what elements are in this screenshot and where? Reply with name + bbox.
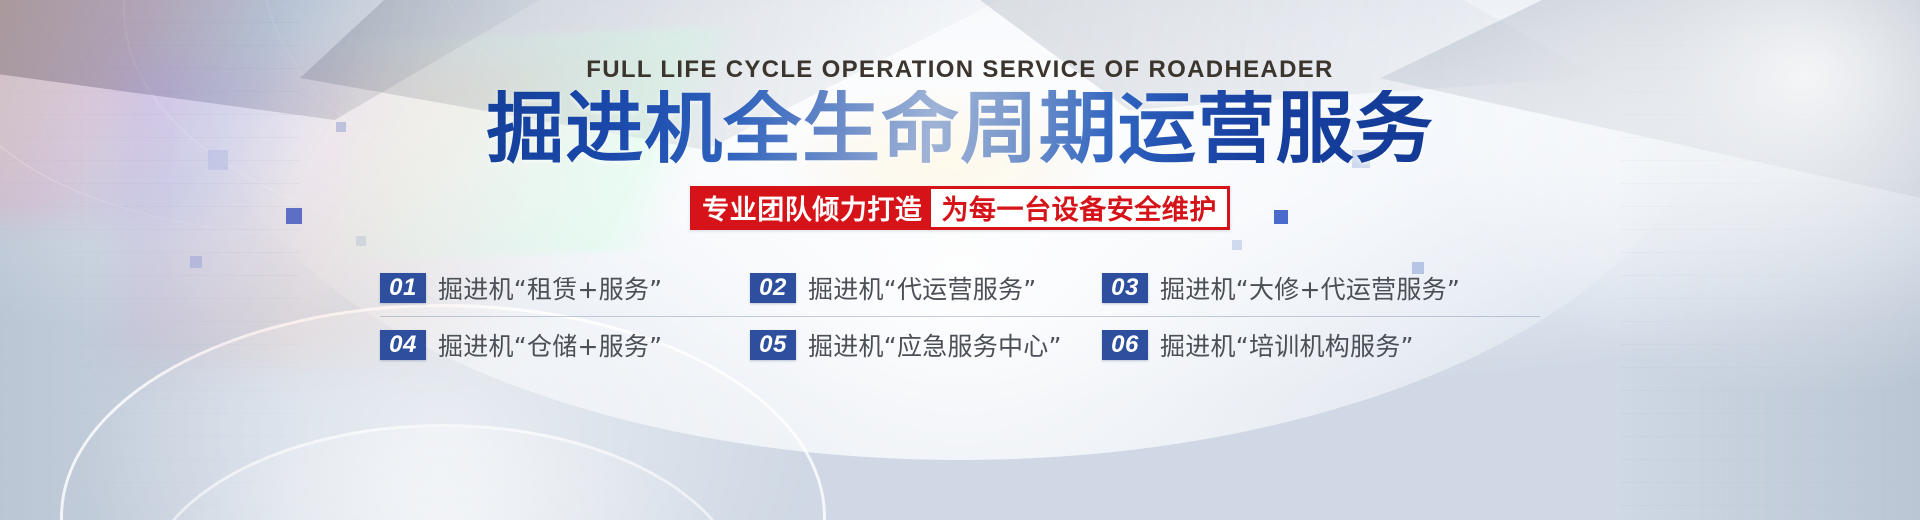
service-item-06[interactable]: 06 掘进机“培训机构服务” <box>1102 327 1414 363</box>
service-item-04[interactable]: 04 掘进机“仓储+服务” <box>380 327 750 363</box>
service-item-01[interactable]: 01 掘进机“租赁+服务” <box>380 270 750 306</box>
service-label: 掘进机“大修+代运营服务” <box>1160 270 1460 306</box>
service-label: 掘进机“应急服务中心” <box>808 327 1062 363</box>
banner-content: FULL LIFE CYCLE OPERATION SERVICE OF ROA… <box>0 0 1920 520</box>
banner-eyebrow-english: FULL LIFE CYCLE OPERATION SERVICE OF ROA… <box>586 56 1333 84</box>
service-label: 掘进机“仓储+服务” <box>438 327 662 363</box>
service-number-badge: 03 <box>1102 273 1148 303</box>
service-item-03[interactable]: 03 掘进机“大修+代运营服务” <box>1102 270 1460 306</box>
service-row-top: 01 掘进机“租赁+服务” 02 掘进机“代运营服务” 03 掘进机“大修+代运… <box>380 260 1540 317</box>
service-number-badge: 02 <box>750 273 796 303</box>
service-label: 掘进机“租赁+服务” <box>438 270 662 306</box>
slogan-banner: 专业团队倾力打造 为每一台设备安全维护 <box>690 186 1230 230</box>
service-label: 掘进机“培训机构服务” <box>1160 327 1414 363</box>
service-item-05[interactable]: 05 掘进机“应急服务中心” <box>750 327 1102 363</box>
slogan-detail: 为每一台设备安全维护 <box>931 189 1226 227</box>
service-label: 掘进机“代运营服务” <box>808 270 1036 306</box>
service-row-bottom: 04 掘进机“仓储+服务” 05 掘进机“应急服务中心” 06 掘进机“培训机构… <box>380 317 1540 373</box>
slogan-highlight: 专业团队倾力打造 <box>693 189 931 227</box>
service-number-badge: 05 <box>750 330 796 360</box>
service-item-02[interactable]: 02 掘进机“代运营服务” <box>750 270 1102 306</box>
service-list: 01 掘进机“租赁+服务” 02 掘进机“代运营服务” 03 掘进机“大修+代运… <box>380 260 1540 373</box>
service-number-badge: 04 <box>380 330 426 360</box>
service-number-badge: 01 <box>380 273 426 303</box>
promo-banner: FULL LIFE CYCLE OPERATION SERVICE OF ROA… <box>0 0 1920 520</box>
service-number-badge: 06 <box>1102 330 1148 360</box>
banner-headline: 掘进机全生命周期运营服务 <box>486 90 1433 170</box>
